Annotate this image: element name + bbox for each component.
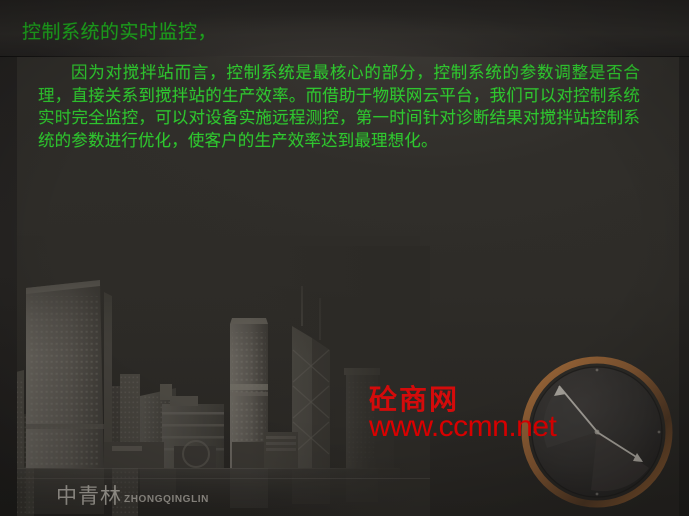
city-skyline-background-image — [0, 246, 400, 516]
slide-left-edge — [0, 0, 17, 516]
page-title: 控制系统的实时监控， — [22, 20, 217, 44]
body-paragraph: 因为对搅拌站而言，控制系统是最核心的部分，控制系统的参数调整是否合理，直接关系到… — [38, 62, 640, 152]
logo-name-en: ZHONGQINGLIN — [124, 493, 209, 507]
slide-right-edge — [679, 0, 689, 516]
logo-name-cn: 中青林 — [56, 485, 122, 507]
presentation-slide: 中青林 ZHONGQINGLIN 控制系统的实时监控， 因为对搅拌站而言，控制系… — [0, 0, 689, 516]
body-text-block: 因为对搅拌站而言，控制系统是最核心的部分，控制系统的参数调整是否合理，直接关系到… — [38, 62, 640, 152]
clock-gauge-icon — [521, 356, 673, 508]
skyline-reflection-line — [0, 478, 430, 479]
title-divider — [0, 56, 689, 57]
company-logo: 中青林 ZHONGQINGLIN — [56, 485, 209, 507]
